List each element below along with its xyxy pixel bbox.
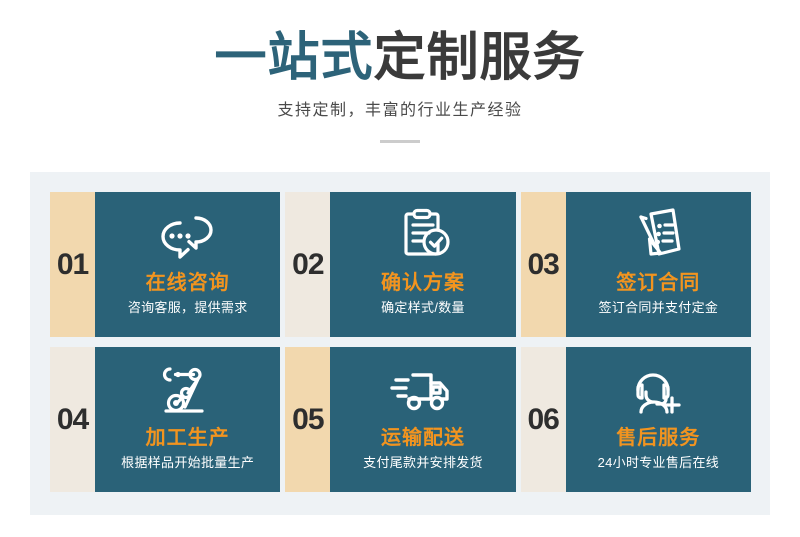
step-card-3[interactable]: 03 bbox=[521, 192, 751, 337]
page-root: 一站式定制服务 支持定制，丰富的行业生产经验 01 bbox=[0, 0, 800, 537]
step-desc-5: 支付尾款并安排发货 bbox=[363, 454, 483, 472]
step-desc-4: 根据样品开始批量生产 bbox=[121, 454, 254, 472]
step-desc-2: 确定样式/数量 bbox=[381, 299, 465, 317]
step-body-5: 运输配送 支付尾款并安排发货 bbox=[330, 347, 515, 492]
page-title-rest: 定制服务 bbox=[374, 29, 586, 87]
step-number-6: 06 bbox=[521, 347, 566, 492]
page-title: 一站式定制服务 bbox=[0, 28, 800, 88]
headset-support-icon bbox=[628, 361, 688, 419]
header-divider bbox=[380, 140, 420, 143]
step-card-5[interactable]: 05 运输配送 bbox=[285, 347, 515, 492]
step-title-2: 确认方案 bbox=[381, 270, 465, 296]
step-body-4: 加工生产 根据样品开始批量生产 bbox=[95, 347, 280, 492]
page-subtitle: 支持定制，丰富的行业生产经验 bbox=[0, 99, 800, 123]
step-desc-1: 咨询客服，提供需求 bbox=[128, 299, 248, 317]
page-title-accent: 一站式 bbox=[214, 29, 373, 87]
delivery-truck-icon bbox=[390, 361, 456, 419]
step-title-5: 运输配送 bbox=[381, 425, 465, 451]
step-number-2: 02 bbox=[285, 192, 330, 337]
step-title-4: 加工生产 bbox=[146, 425, 230, 451]
step-card-2[interactable]: 02 确认方案 bbox=[285, 192, 515, 337]
chat-bubbles-icon bbox=[156, 206, 220, 264]
clipboard-check-icon bbox=[394, 206, 452, 264]
step-card-1[interactable]: 01 在线咨询 咨询客服，提供需求 bbox=[50, 192, 280, 337]
step-title-1: 在线咨询 bbox=[146, 270, 230, 296]
steps-panel: 01 在线咨询 咨询客服，提供需求 bbox=[30, 172, 770, 515]
step-number-5: 05 bbox=[285, 347, 330, 492]
step-desc-6: 24小时专业售后在线 bbox=[598, 454, 719, 472]
step-card-6[interactable]: 06 售后服务 bbox=[521, 347, 751, 492]
contract-sign-icon bbox=[629, 206, 687, 264]
step-number-1: 01 bbox=[50, 192, 95, 337]
steps-grid: 01 在线咨询 咨询客服，提供需求 bbox=[50, 192, 751, 492]
step-body-2: 确认方案 确定样式/数量 bbox=[330, 192, 515, 337]
step-number-3: 03 bbox=[521, 192, 566, 337]
step-desc-3: 签订合同并支付定金 bbox=[598, 299, 718, 317]
robot-arm-icon bbox=[158, 361, 218, 419]
step-title-6: 售后服务 bbox=[616, 425, 700, 451]
page-header: 一站式定制服务 支持定制，丰富的行业生产经验 bbox=[0, 0, 800, 172]
step-body-1: 在线咨询 咨询客服，提供需求 bbox=[95, 192, 280, 337]
step-body-3: 签订合同 签订合同并支付定金 bbox=[566, 192, 751, 337]
step-title-3: 签订合同 bbox=[616, 270, 700, 296]
step-number-4: 04 bbox=[50, 347, 95, 492]
step-card-4[interactable]: 04 bbox=[50, 347, 280, 492]
step-body-6: 售后服务 24小时专业售后在线 bbox=[566, 347, 751, 492]
